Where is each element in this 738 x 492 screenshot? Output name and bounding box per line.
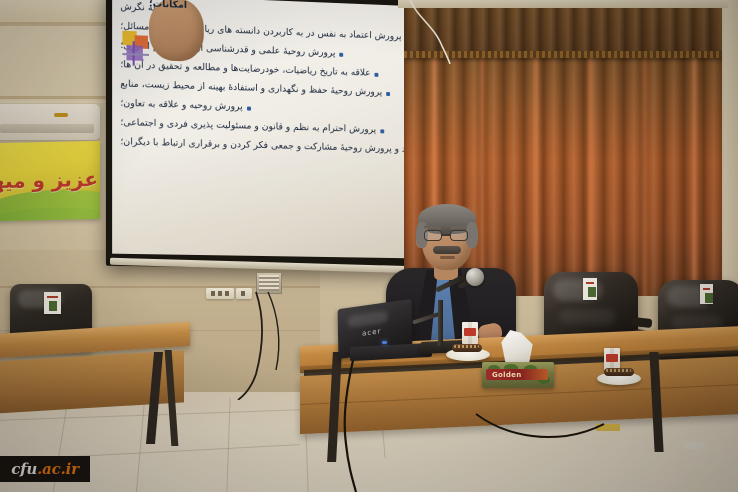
slide-line-text: پرورش احترام به نظم و قانون و مسئولیت پذ… — [120, 116, 376, 136]
ac-indicator-led — [54, 113, 68, 117]
laptop-brand-label: acer — [362, 327, 381, 338]
watermark: cfu .ac.ir — [0, 456, 90, 482]
speaker-mouth — [440, 256, 455, 259]
slide-line-text: پرورش روحیهٔ حفظ و نگهداری و استفادهٔ به… — [120, 77, 382, 98]
wall-cable — [190, 270, 310, 400]
microphone-post — [438, 300, 443, 346]
slide-line-text: علاقه به تاریخ ریاضیات، خودرضایت‌ها و مط… — [120, 58, 370, 80]
slide-bullet-icon — [374, 73, 378, 77]
presentation-slide: حیطه نگرشپرورش اعتماد به نفس در به کاربر… — [112, 0, 409, 258]
eyeglasses-icon — [424, 230, 471, 241]
photo-scene: عزیز و میهمانان ار حیطه نگرشپرورش اعتماد… — [0, 0, 738, 492]
welcome-banner: عزیز و میهمانان ار — [0, 141, 100, 221]
juice-carton — [604, 348, 620, 370]
laptop-power-led — [382, 341, 387, 344]
ceiling-cable — [408, 0, 468, 64]
banner-swoosh-front — [0, 188, 100, 221]
chair-tag — [44, 292, 61, 314]
projection-screen: حیطه نگرشپرورش اعتماد به نفس در به کاربر… — [106, 0, 415, 270]
floor-cable — [330, 352, 450, 492]
pastry — [452, 344, 482, 352]
tissue-box: Golden — [482, 362, 554, 388]
projection-screen-surface: حیطه نگرشپرورش اعتماد به نفس در به کاربر… — [112, 0, 409, 258]
air-conditioner — [0, 104, 100, 140]
slide-bullet-line: علاقه به تاریخ ریاضیات، خودرضایت‌ها و مط… — [120, 58, 399, 81]
speaker-mustache — [433, 246, 461, 254]
slide-line-text: امکانات؛ — [149, 0, 187, 12]
slide-line-text: پرورش روحیه و علاقه به تعاون؛ — [120, 97, 242, 114]
slide-bullet-line: پرورش روحیه و علاقه به تعاون؛ — [120, 97, 399, 118]
slide-bullet-line: ایجاد و پرورش روحیهٔ مشارکت و جمعی فکر ک… — [120, 135, 399, 155]
tissue-box-label: Golden — [492, 371, 522, 379]
slide-bullet-icon — [380, 129, 384, 133]
chair-tag — [583, 278, 597, 300]
slide-line-text: ایجاد و پرورش روحیهٔ مشارکت و جمعی فکر ک… — [120, 135, 409, 156]
slide-bullet-line: پرورش روحیهٔ حفظ و نگهداری و استفادهٔ به… — [120, 77, 399, 99]
slide-bullet-icon — [339, 53, 343, 57]
microphone-head-icon — [466, 268, 484, 286]
chair-armrest — [632, 317, 653, 328]
ac-vent — [0, 124, 94, 133]
watermark-prefix: cfu — [11, 460, 37, 478]
chair-tag — [700, 284, 713, 304]
floor-cable — [470, 406, 610, 456]
slide-bullet-icon — [386, 92, 390, 96]
watermark-suffix: .ac.ir — [37, 460, 79, 478]
table-label-white — [684, 442, 704, 449]
juice-carton — [462, 322, 478, 344]
slide-bullet-line: پرورش احترام به نظم و قانون و مسئولیت پذ… — [120, 116, 399, 137]
slide-heading-line: امکانات؛ — [149, 0, 204, 62]
pastry — [604, 368, 634, 376]
slide-bullet-icon — [247, 107, 251, 111]
slide-logo-icon — [122, 31, 153, 67]
banner-text: عزیز و میهمانان ار — [0, 167, 98, 193]
